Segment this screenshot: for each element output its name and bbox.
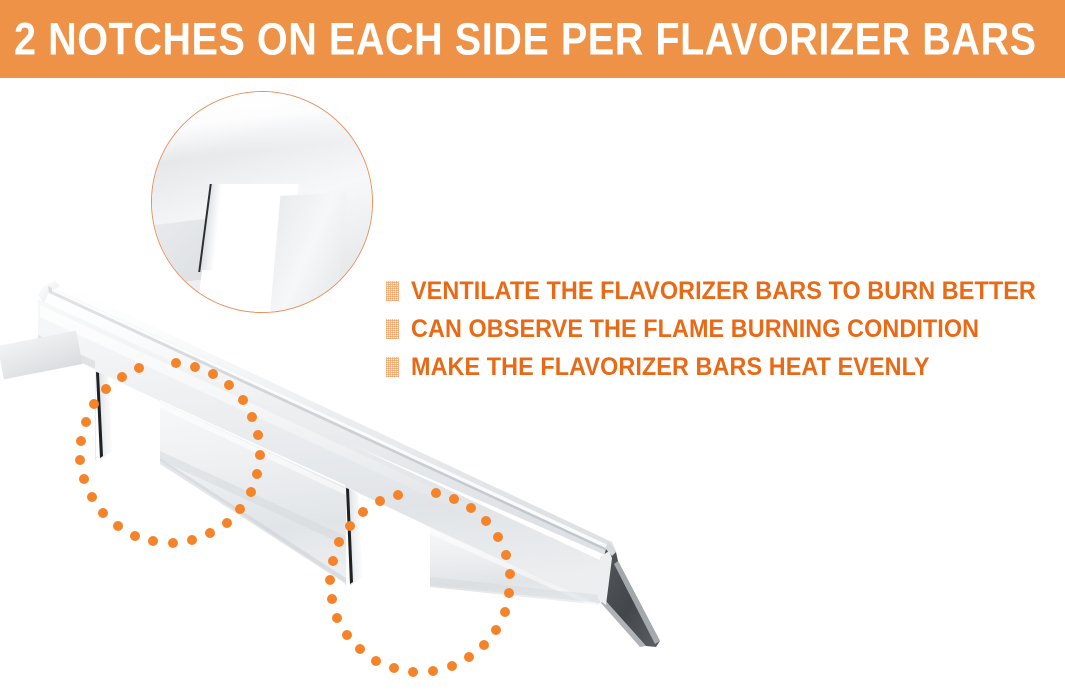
magnifier-closeup-of-notch [151, 91, 373, 313]
hatched-square-bullet-icon [386, 281, 399, 301]
hatched-square-bullet-icon [386, 357, 399, 377]
highlight-ring-dot [371, 656, 381, 666]
highlight-ring-dot [447, 661, 457, 671]
benefits-list: VENTILATE THE FLAVORIZER BARS TO BURN BE… [386, 272, 1062, 386]
highlight-ring-dot [428, 666, 438, 676]
benefit-label: MAKE THE FLAVORIZER BARS HEAT EVENLY [411, 355, 930, 380]
list-item: MAKE THE FLAVORIZER BARS HEAT EVENLY [386, 348, 1062, 386]
benefit-label: CAN OBSERVE THE FLAME BURNING CONDITION [411, 317, 979, 342]
list-item: CAN OBSERVE THE FLAME BURNING CONDITION [386, 310, 1062, 348]
highlight-ring-dot [389, 663, 399, 673]
benefit-label: VENTILATE THE FLAVORIZER BARS TO BURN BE… [411, 279, 1036, 304]
closeup-notch-right-panel [267, 192, 347, 313]
header-banner: 2 NOTCHES ON EACH SIDE PER FLAVORIZER BA… [0, 0, 1065, 78]
infographic-canvas: 2 NOTCHES ON EACH SIDE PER FLAVORIZER BA… [0, 0, 1065, 700]
list-item: VENTILATE THE FLAVORIZER BARS TO BURN BE… [386, 272, 1062, 310]
highlight-ring-dot [408, 667, 418, 677]
hatched-square-bullet-icon [386, 319, 399, 339]
banner-title: 2 NOTCHES ON EACH SIDE PER FLAVORIZER BA… [14, 17, 1037, 62]
